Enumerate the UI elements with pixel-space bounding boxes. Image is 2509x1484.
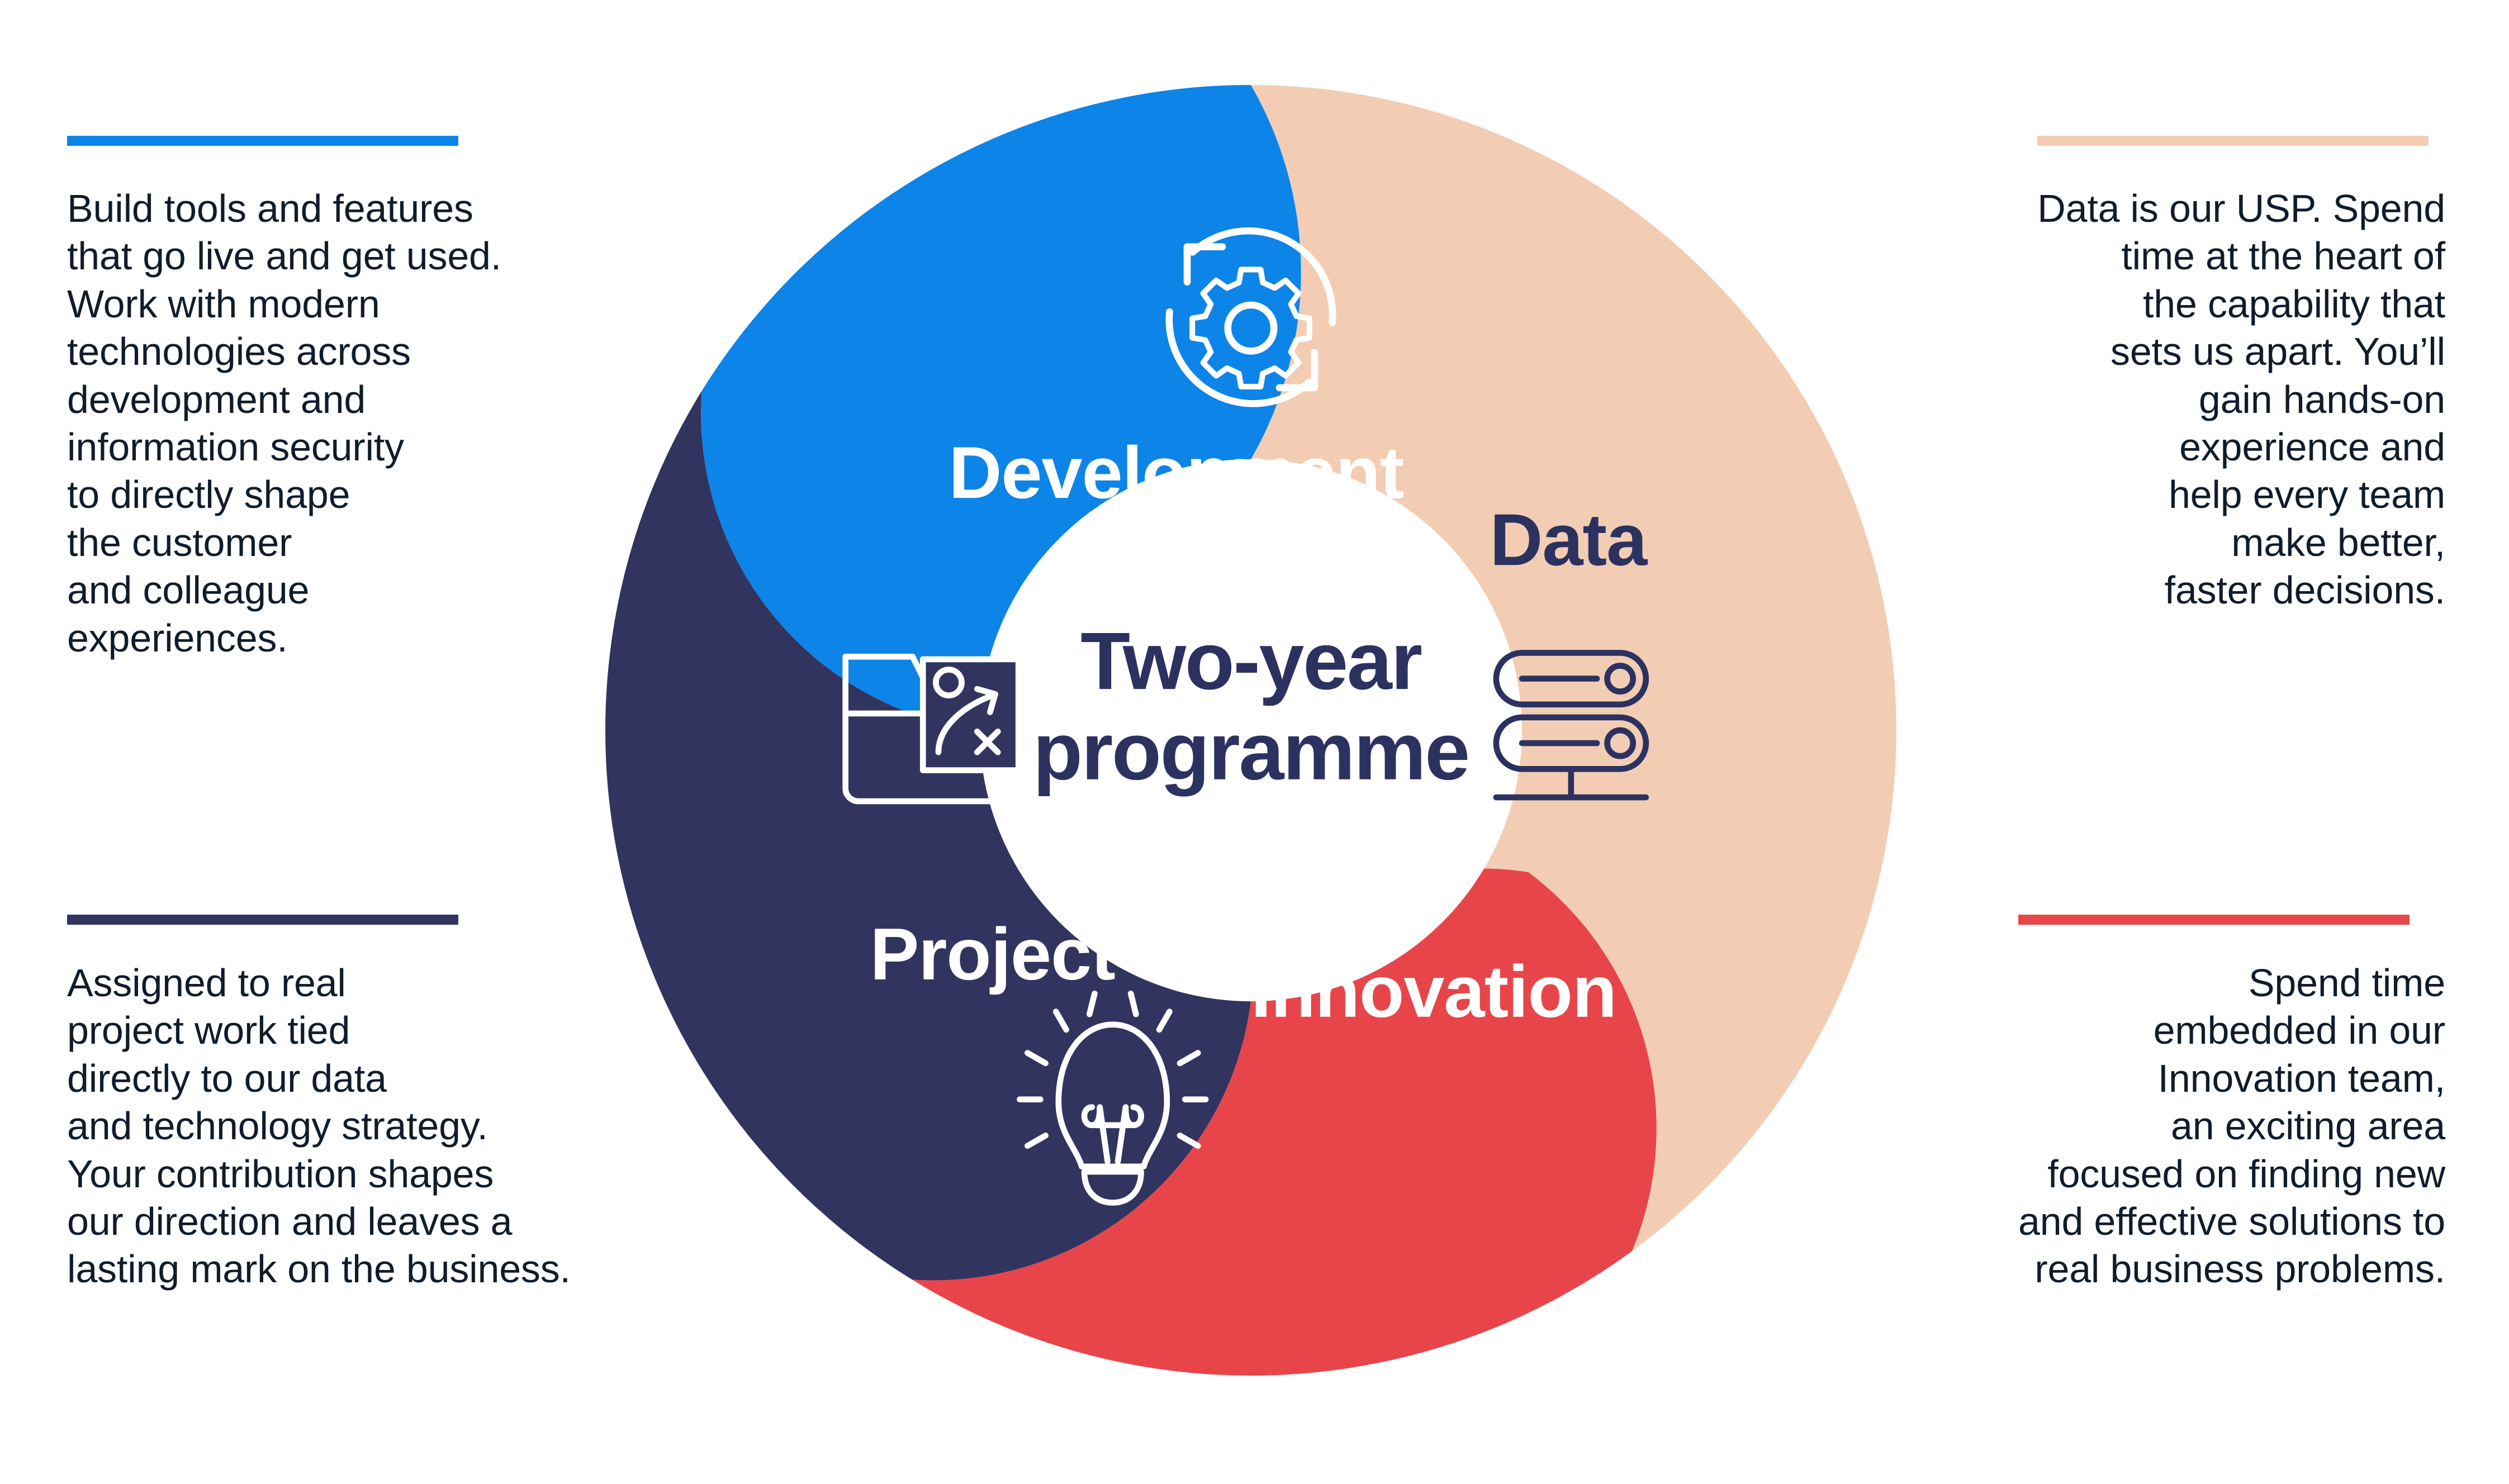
accent-bar-development (67, 136, 458, 146)
panel-data: Data is our USP. Spend time at the heart… (2037, 136, 2445, 615)
accent-bar-project (67, 915, 458, 925)
center-title-line2: programme (1033, 706, 1469, 797)
segment-label-development: Development (948, 431, 1403, 513)
programme-cycle-diagram: Development Data Innovation Project Two-… (605, 85, 1896, 1376)
center-title-line1: Two-year (1080, 615, 1421, 706)
panel-development: Build tools and features that go live an… (67, 136, 501, 662)
segment-label-data: Data (1490, 498, 1648, 581)
segment-label-project: Project (870, 913, 1116, 995)
segment-label-innovation: Innovation (1251, 950, 1616, 1033)
panel-project: Assigned to real project work tied direc… (67, 915, 571, 1293)
panel-project-text: Assigned to real project work tied direc… (67, 959, 571, 1293)
panel-data-text: Data is our USP. Spend time at the heart… (2037, 185, 2445, 615)
accent-bar-data (2037, 136, 2429, 146)
panel-development-text: Build tools and features that go live an… (67, 185, 501, 662)
panel-innovation: Spend time embedded in our Innovation te… (2018, 915, 2445, 1293)
accent-bar-innovation (2018, 915, 2410, 925)
panel-innovation-text: Spend time embedded in our Innovation te… (2018, 959, 2445, 1293)
